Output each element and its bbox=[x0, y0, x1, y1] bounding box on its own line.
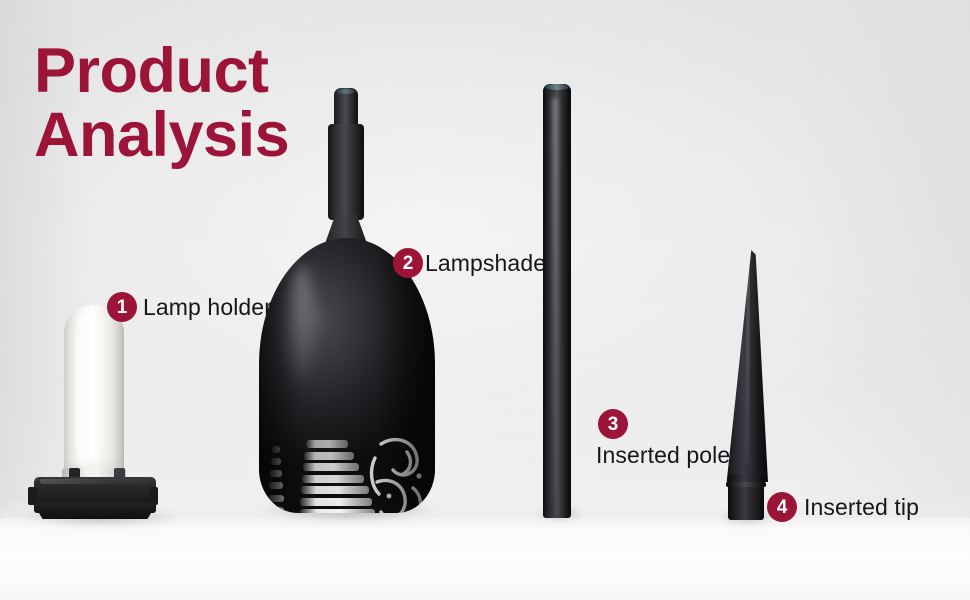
callout-badge-1: 1 bbox=[107, 292, 137, 322]
lampshade-side-slot bbox=[269, 482, 283, 489]
lampshade-neck bbox=[328, 124, 364, 220]
inserted-tip-collar-ring bbox=[726, 482, 766, 487]
product-inserted-pole bbox=[543, 84, 577, 522]
callout-label-inserted-tip: Inserted tip bbox=[804, 494, 919, 521]
product-analysis-banner: Product Analysis bbox=[0, 0, 970, 600]
lamp-holder-clip bbox=[149, 487, 158, 505]
lampshade-body bbox=[259, 238, 435, 513]
inserted-tip-collar bbox=[728, 474, 764, 520]
lampshade-side-cutouts bbox=[265, 442, 291, 513]
callout-lampshade: 2 Lampshade bbox=[393, 248, 546, 278]
lampshade-slot bbox=[300, 509, 375, 513]
inserted-pole-highlight bbox=[552, 98, 558, 502]
callout-label-lamp-holder: Lamp holder bbox=[143, 294, 272, 321]
studio-backdrop-floor bbox=[0, 518, 970, 600]
title-line-analysis: Analysis bbox=[34, 106, 289, 166]
lampshade-slot bbox=[304, 452, 353, 460]
product-inserted-tip bbox=[724, 250, 776, 522]
callout-inserted-tip: 4 Inserted tip bbox=[767, 492, 919, 522]
product-lamp-holder bbox=[22, 305, 178, 520]
callout-badge-2: 2 bbox=[393, 248, 423, 278]
lampshade-side-slot bbox=[268, 507, 285, 513]
lampshade-highlight bbox=[289, 266, 315, 386]
title-line-product: Product bbox=[34, 42, 289, 102]
lampshade-slot bbox=[300, 498, 372, 506]
callout-lamp-holder: 1 Lamp holder bbox=[107, 292, 272, 322]
lampshade-side-slot bbox=[270, 470, 282, 477]
lamp-holder-base-skirt bbox=[26, 503, 164, 519]
callout-label-inserted-pole: Inserted pole bbox=[596, 442, 730, 469]
lampshade-slot-cutouts bbox=[289, 436, 381, 513]
callout-label-lampshade: Lampshade bbox=[425, 250, 546, 277]
lampshade-slot bbox=[302, 475, 364, 483]
lampshade-filigree-pattern bbox=[367, 426, 433, 513]
page-title: Product Analysis bbox=[34, 42, 289, 166]
lampshade-side-slot bbox=[271, 458, 281, 465]
lampshade-side-slot bbox=[272, 446, 280, 453]
lamp-holder-clip bbox=[28, 487, 37, 505]
lampshade-nozzle bbox=[334, 88, 358, 128]
lampshade-slot bbox=[306, 440, 348, 448]
callout-badge-3: 3 bbox=[598, 409, 628, 439]
callout-inserted-pole: 3 Inserted pole bbox=[598, 409, 730, 469]
lamp-holder-diffuser bbox=[64, 305, 124, 480]
product-lampshade bbox=[255, 88, 440, 520]
lampshade-slot bbox=[303, 463, 359, 471]
lampshade-side-slot bbox=[268, 495, 284, 502]
lampshade-slot bbox=[301, 486, 369, 494]
callout-badge-4: 4 bbox=[767, 492, 797, 522]
